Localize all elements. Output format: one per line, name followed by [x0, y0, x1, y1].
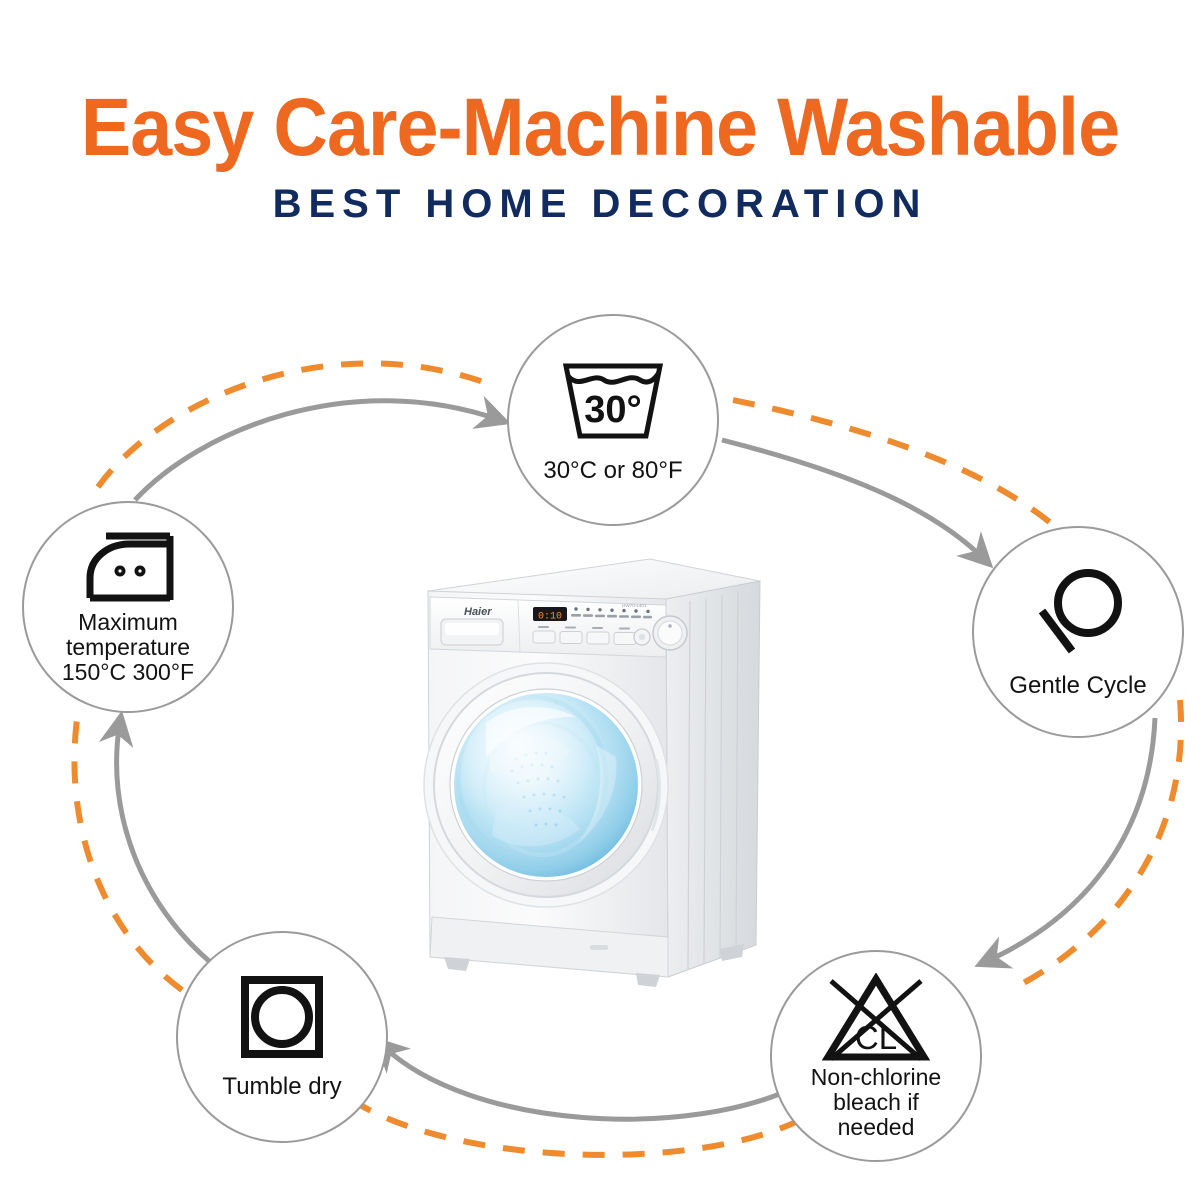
care-node-caption: Non-chlorine bleach if needed: [811, 1065, 941, 1140]
wash-tub-30-icon: 30°: [554, 356, 672, 448]
washer-display-value: 0:10: [538, 612, 562, 623]
care-node-wash-temperature[interactable]: 30° 30°C or 80°F: [507, 314, 719, 526]
washer-model-text: HW70-1401: [622, 603, 647, 608]
gentle-cycle-icon: [1028, 565, 1128, 661]
care-node-caption: Gentle Cycle: [1009, 673, 1146, 699]
infographic-canvas: Easy Care-Machine Washable BEST HOME DEC…: [0, 0, 1200, 1200]
wash-temp-symbol-value: 30°: [584, 389, 641, 431]
care-node-iron-temperature[interactable]: Maximum temperature 150°C 300°F: [22, 501, 234, 713]
care-node-caption: 30°C or 80°F: [543, 458, 682, 484]
tumble-dry-icon: [239, 974, 325, 1060]
care-node-gentle-cycle[interactable]: Gentle Cycle: [972, 526, 1184, 738]
care-node-tumble-dry[interactable]: Tumble dry: [176, 931, 388, 1143]
care-node-caption: Maximum temperature 150°C 300°F: [62, 610, 194, 685]
bleach-symbol-value: CL: [855, 1019, 897, 1056]
iron-two-dots-icon: [76, 530, 180, 608]
no-chlorine-bleach-triangle-icon: CL: [821, 973, 931, 1065]
care-node-caption: Tumble dry: [222, 1074, 341, 1100]
washing-machine-illustration: Haier 0:10 HW70-1401: [400, 545, 780, 1005]
washer-brand-text: Haier: [464, 606, 492, 618]
care-node-non-chlorine-bleach[interactable]: CL Non-chlorine bleach if needed: [770, 950, 982, 1162]
